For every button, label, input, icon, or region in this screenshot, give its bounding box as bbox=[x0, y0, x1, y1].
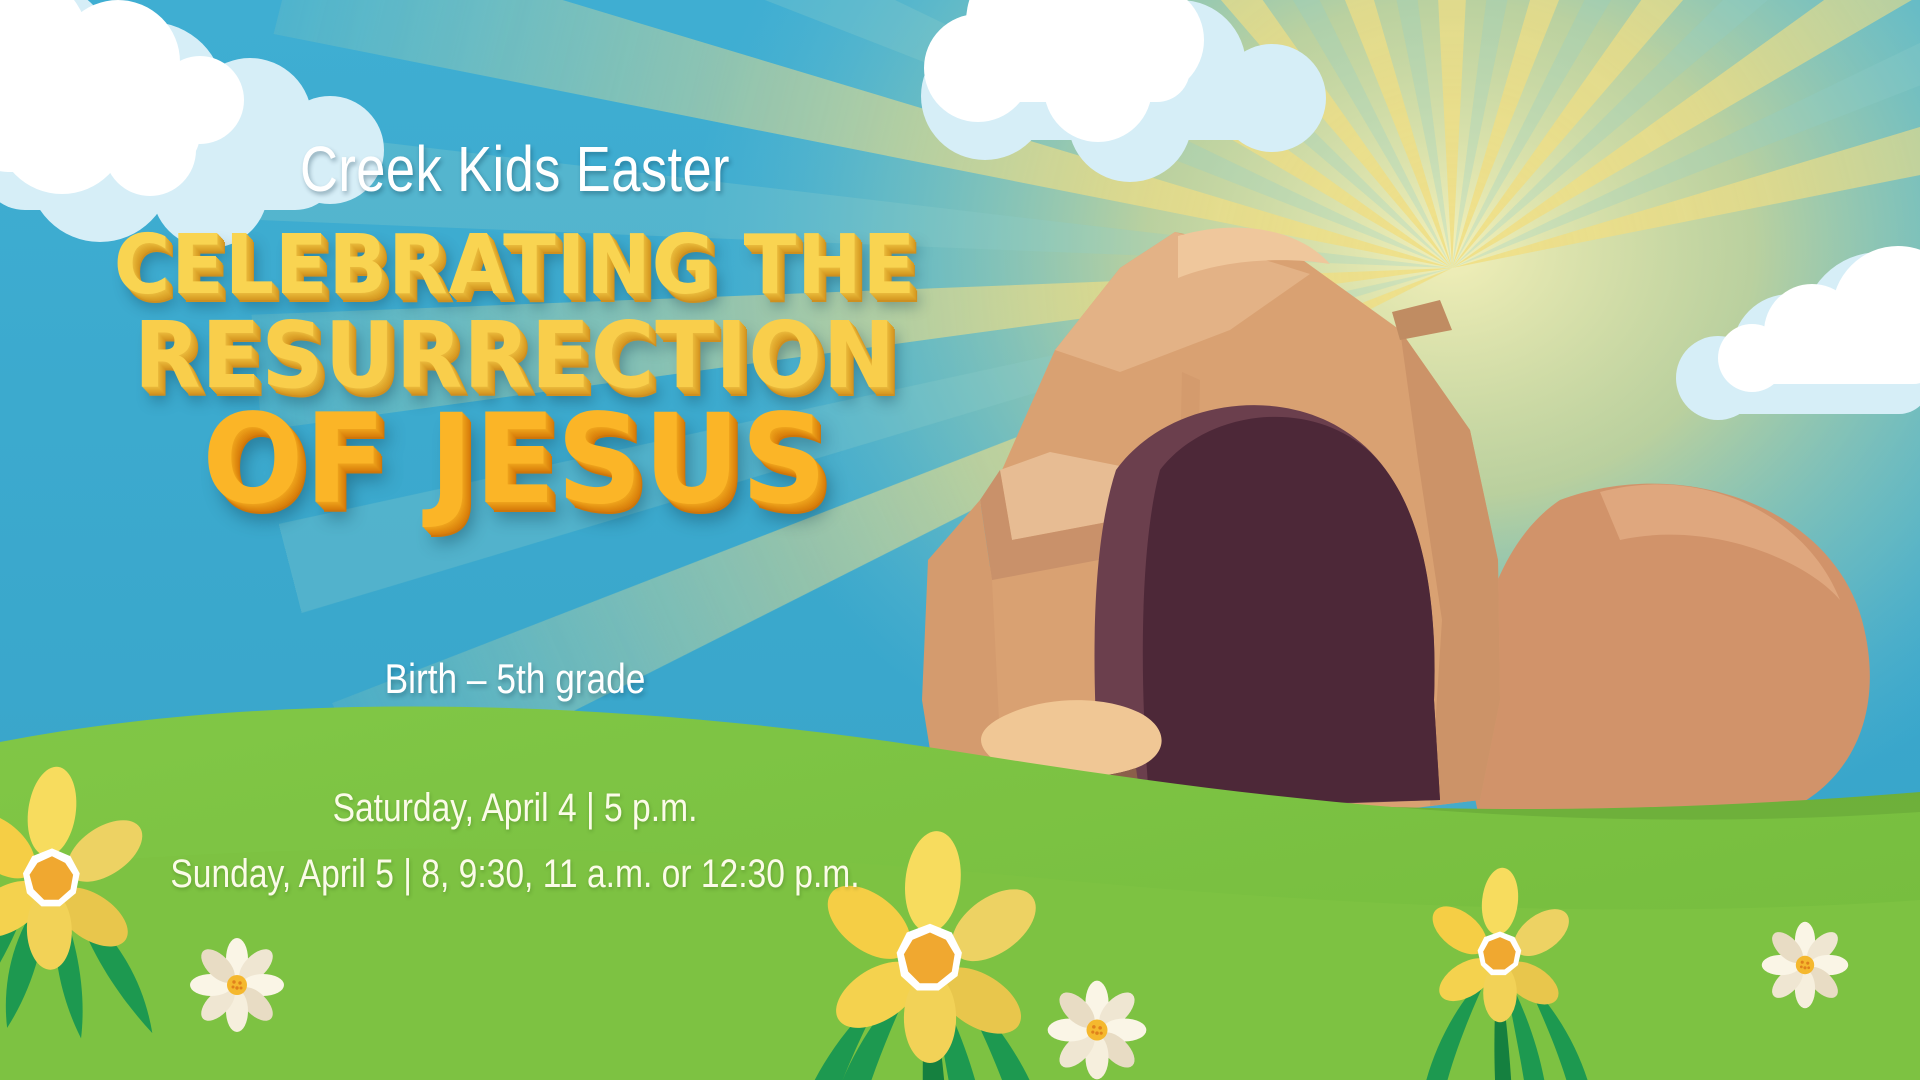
daisy-right bbox=[1762, 922, 1848, 1008]
daisy-center-disc bbox=[1087, 1020, 1108, 1041]
daisy-left bbox=[190, 938, 284, 1032]
scene-illustration bbox=[0, 0, 1920, 1080]
daisy-center bbox=[227, 975, 247, 995]
daisy-center-disc bbox=[1796, 956, 1814, 974]
daisy-center bbox=[1048, 981, 1147, 1080]
easter-event-poster: Creek Kids Easter CELEBRATING THE RESURR… bbox=[0, 0, 1920, 1080]
